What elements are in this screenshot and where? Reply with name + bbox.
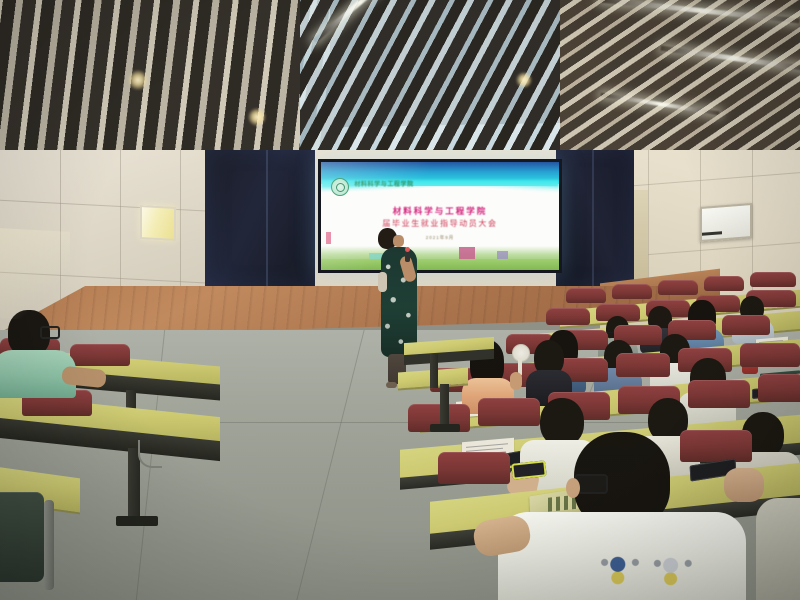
microphone-icon: [405, 250, 410, 262]
seatback: [70, 344, 130, 366]
person-arm-right-edge: [724, 468, 764, 502]
desk-foot: [116, 516, 158, 526]
person-ear: [566, 478, 580, 498]
desk-leg: [440, 384, 449, 428]
seatback: [612, 284, 652, 299]
lecture-hall-photo: 材料科学与工程学院 材料科学与工程学院 届毕业生就业指导动员大会 2021年9月: [0, 0, 800, 600]
ceiling-slat-group-right: [560, 0, 800, 150]
person-torso-right-edge: [756, 498, 800, 600]
seatback: [566, 288, 606, 303]
seatback: [688, 380, 750, 408]
seatback: [680, 430, 752, 462]
seatback: [704, 276, 744, 291]
seatback: [546, 308, 590, 325]
seatback: [616, 353, 670, 377]
glasses-icon: [40, 326, 60, 339]
wall-sunlight-patch: [0, 228, 70, 322]
whiteboard: [700, 203, 752, 242]
seatback: [438, 452, 510, 484]
ceiling-slat-group-left: [0, 0, 330, 150]
person-arm: [510, 372, 522, 390]
ceiling-downlight: [248, 108, 266, 126]
seatback: [750, 272, 796, 287]
desk-leg: [430, 354, 438, 388]
projection-screen: 材料科学与工程学院 材料科学与工程学院 届毕业生就业指导动员大会 2021年9月: [318, 159, 562, 273]
ceiling-downlight: [516, 72, 532, 88]
seatback: [722, 315, 770, 335]
presenter-bag: [378, 272, 387, 292]
chair-rail: [44, 500, 54, 590]
stage-panel-left: [205, 144, 315, 292]
ceiling-downlight: [128, 70, 148, 90]
desk-foot: [430, 424, 460, 432]
seatback: [758, 374, 800, 402]
person-head-white-tee-1: [540, 398, 584, 446]
ceiling-slat-group-center: [300, 0, 600, 150]
seatback: [740, 343, 800, 367]
wall-niche-light: [140, 205, 176, 241]
seatback: [0, 492, 44, 582]
tshirt-robot-graphic: [598, 548, 708, 596]
desk-wire: [138, 440, 162, 468]
presenter: [378, 228, 420, 394]
screen-glare: [321, 162, 559, 270]
presenter-face: [393, 235, 404, 247]
seatback: [658, 280, 698, 295]
stage-panel-right: [556, 146, 634, 288]
seatback: [478, 398, 540, 426]
presenter-shoe-left: [386, 382, 397, 388]
